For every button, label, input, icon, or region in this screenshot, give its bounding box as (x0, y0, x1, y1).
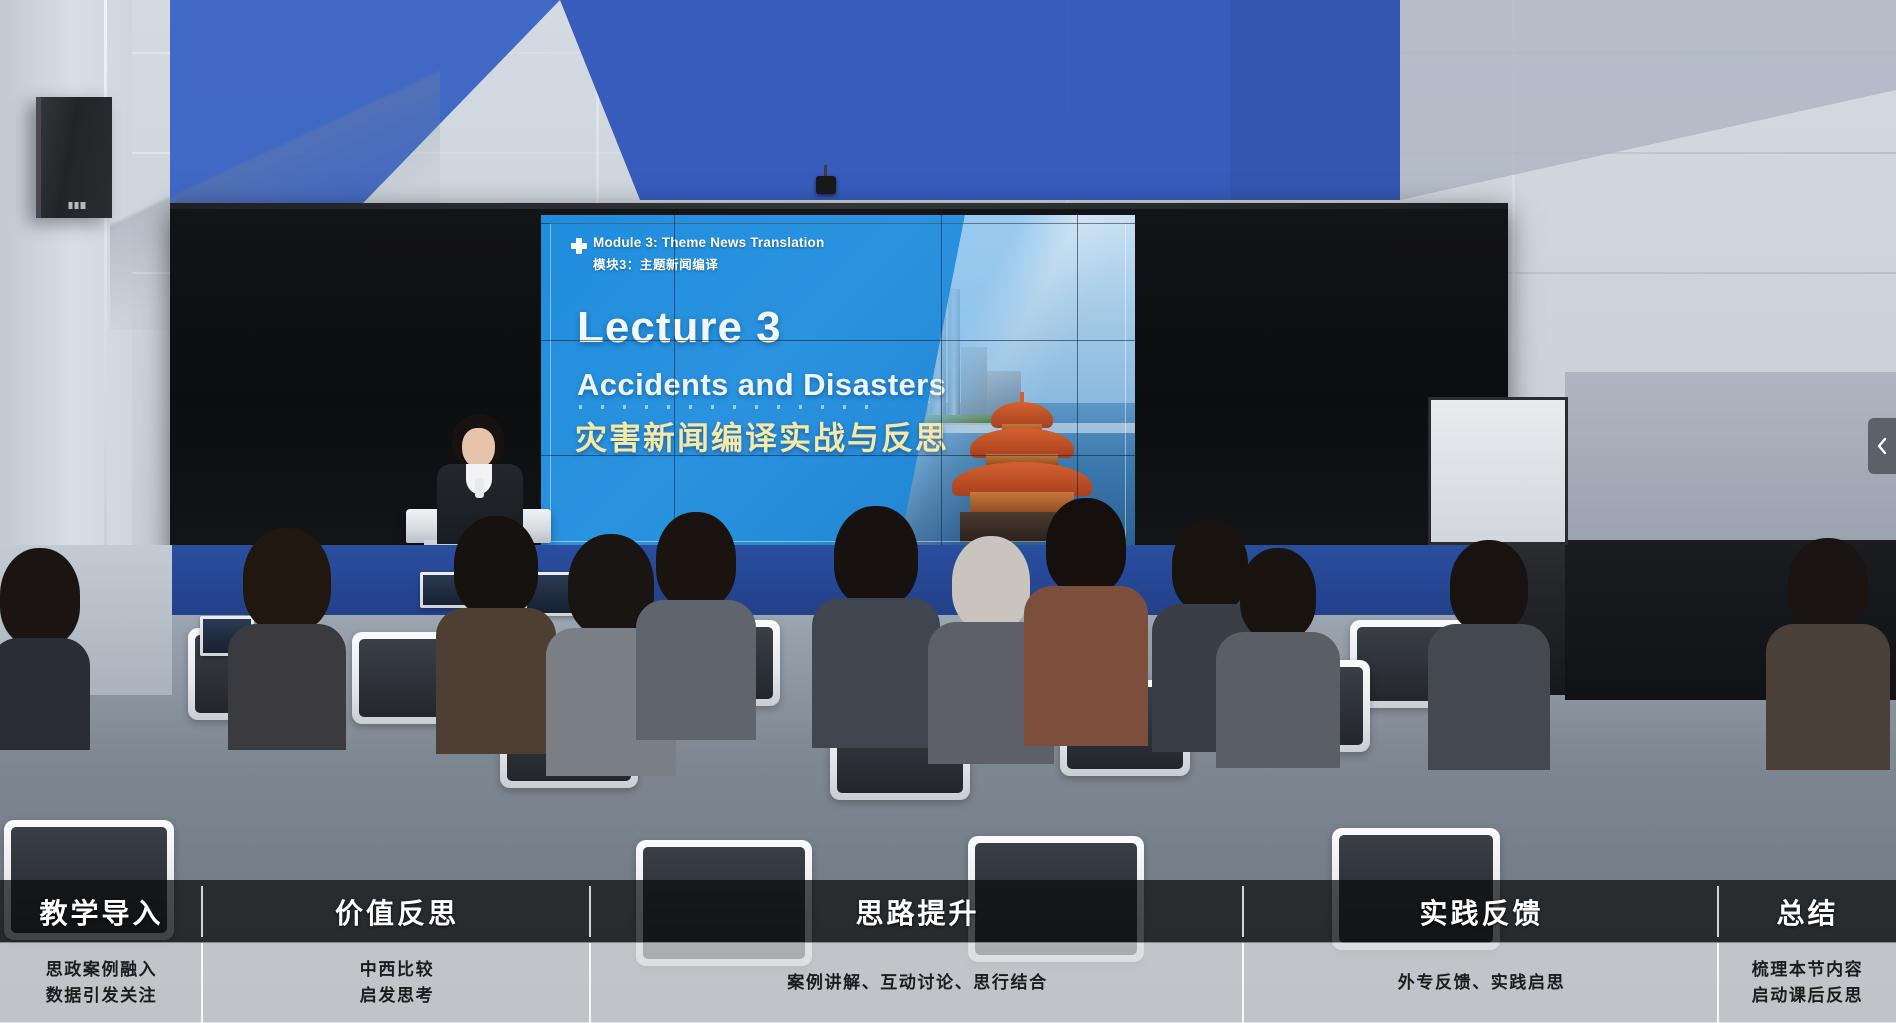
student-body (436, 608, 556, 754)
ceiling-camera-icon (816, 176, 836, 194)
student-head (454, 516, 538, 616)
student-body (1428, 624, 1550, 770)
speaker-logo-icon (68, 202, 85, 209)
wall-speaker (36, 97, 112, 218)
banner-detail-line: 数据引发关注 (46, 983, 158, 1009)
instructor-tie (475, 478, 484, 498)
student-body (0, 638, 90, 750)
banner-detail-line: 案例讲解、互动讨论、思行结合 (787, 970, 1047, 996)
slide-kicker-en: Module 3: Theme News Translation (593, 235, 824, 250)
banner-detail-3[interactable]: 外专反馈、实践启思 (1244, 943, 1719, 1023)
lesson-flow-banner: 教学导入 价值反思 思路提升 实践反馈 总结 思政案例融入 (0, 880, 1896, 1023)
banner-detail-0[interactable]: 思政案例融入 数据引发关注 (0, 943, 203, 1023)
student (636, 512, 756, 738)
banner-detail-line: 启发思考 (360, 983, 434, 1009)
instructor-face (462, 428, 495, 468)
banner-heading-label: 教学导入 (39, 892, 163, 932)
student-body (1766, 624, 1890, 770)
student (1024, 498, 1148, 744)
student (228, 528, 346, 748)
pagoda-roof (952, 462, 1092, 496)
slide-title: Lecture 3 (577, 303, 782, 353)
student-head (656, 512, 736, 608)
slide-kicker-zh: 模块3：主题新闻编译 (593, 254, 718, 273)
student-head (243, 528, 331, 632)
slide-title-zh: 灾害新闻编译实战与反思 (575, 413, 949, 459)
student-body (228, 624, 346, 750)
banner-heading-label: 思路提升 (855, 892, 979, 932)
student-body (1024, 586, 1148, 746)
student-head (1046, 498, 1126, 594)
banner-detail-4[interactable]: 梳理本节内容 启动课后反思 (1719, 943, 1896, 1023)
led-tile-seam (541, 340, 1135, 341)
student-head (1788, 538, 1868, 632)
student-body (812, 598, 940, 748)
banner-detail-line: 中西比较 (360, 957, 434, 983)
student-body (1216, 632, 1340, 768)
collapse-panel-button[interactable] (1868, 418, 1896, 474)
banner-heading-0[interactable]: 教学导入 (0, 880, 203, 943)
student (436, 516, 556, 752)
banner-detail-line: 外专反馈、实践启思 (1398, 970, 1565, 996)
student-head (0, 548, 80, 646)
banner-detail-2[interactable]: 案例讲解、互动讨论、思行结合 (591, 943, 1244, 1023)
led-tile-seam (541, 223, 1135, 224)
chevron-left-icon (1876, 436, 1889, 456)
student-head (834, 506, 918, 606)
student (1216, 548, 1340, 766)
banner-heading-2[interactable]: 思路提升 (591, 880, 1244, 943)
led-tile-seam (674, 215, 675, 550)
slide-dot-rule (579, 405, 879, 409)
student-head (952, 536, 1030, 630)
banner-heading-label: 价值反思 (335, 892, 459, 932)
whiteboard (1428, 397, 1568, 545)
banner-heading-label: 总结 (1776, 892, 1838, 932)
led-tile-seam (941, 215, 942, 550)
right-wall-panel (1565, 372, 1896, 540)
banner-heading-3[interactable]: 实践反馈 (1244, 880, 1719, 943)
banner-heading-row: 教学导入 价值反思 思路提升 实践反馈 总结 (0, 880, 1896, 943)
banner-detail-line: 梳理本节内容 (1752, 957, 1864, 983)
banner-detail-line: 启动课后反思 (1752, 983, 1864, 1009)
student (1428, 540, 1550, 768)
student-head (1240, 548, 1316, 640)
banner-heading-label: 实践反馈 (1419, 892, 1543, 932)
lecture-video-stage: Module 3: Theme News Translation 模块3：主题新… (0, 0, 1896, 1023)
led-tile-seam (541, 455, 1135, 456)
student (1766, 538, 1890, 768)
banner-detail-1[interactable]: 中西比较 启发思考 (203, 943, 591, 1023)
plus-badge-icon (571, 238, 587, 254)
student-head (1450, 540, 1528, 632)
banner-heading-4[interactable]: 总结 (1719, 880, 1896, 943)
banner-heading-1[interactable]: 价值反思 (203, 880, 591, 943)
student-body (636, 600, 756, 740)
banner-detail-line: 思政案例融入 (46, 957, 158, 983)
video-wall-glow (170, 203, 1508, 209)
banner-detail-row: 思政案例融入 数据引发关注 中西比较 启发思考 案例讲解、互动讨论、思行结合 外… (0, 943, 1896, 1023)
student (812, 506, 940, 746)
student (0, 548, 90, 748)
slide-subtitle: Accidents and Disasters (577, 367, 946, 403)
